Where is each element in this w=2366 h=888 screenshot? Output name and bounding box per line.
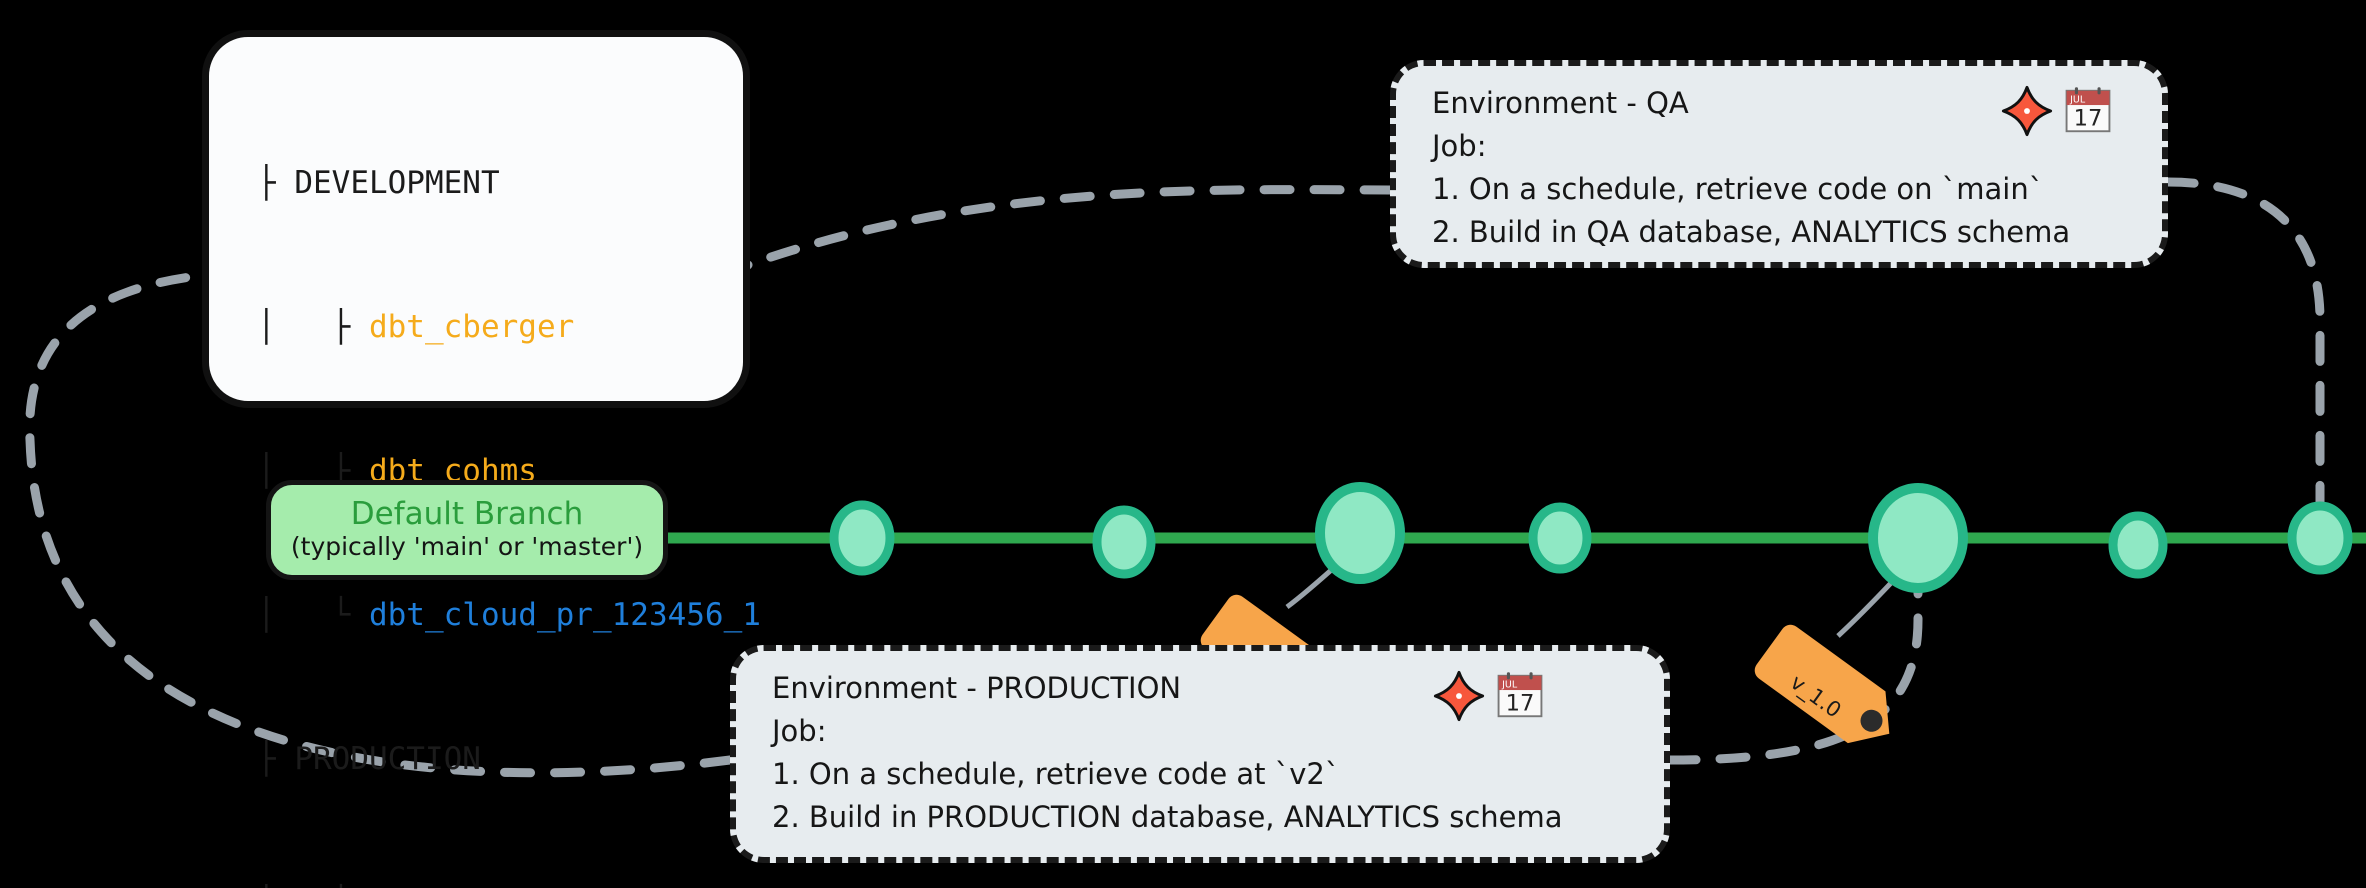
tree-label: dbt_cberger xyxy=(369,309,574,345)
commit-node[interactable] xyxy=(1533,507,1587,569)
environment-production-step-1: 1. On a schedule, retrieve code at `v2` xyxy=(772,753,1644,796)
environment-qa-step-2: 2. Build in QA database, ANALYTICS schem… xyxy=(1432,211,2142,254)
tree-prefix: │ ├ xyxy=(257,309,369,345)
default-branch-subtitle: (typically 'main' or 'master') xyxy=(291,531,643,563)
branch-tree-card: ├ DEVELOPMENT │ ├ dbt_cberger │ ├ dbt_co… xyxy=(202,30,750,408)
tree-prefix: │ └ xyxy=(257,597,369,633)
tree-row-development[interactable]: ├ DEVELOPMENT xyxy=(257,159,761,207)
commit-node[interactable] xyxy=(834,505,890,571)
calendar-icon: JUL 17 xyxy=(2064,86,2112,136)
commit-node[interactable] xyxy=(1873,488,1963,588)
environment-qa-icons: JUL 17 xyxy=(2000,84,2112,138)
diagram-canvas: v_1.0 v_1.0 ├ DEVELOPMENT │ ├ dbt_cberge… xyxy=(0,0,2366,888)
calendar-day: 17 xyxy=(1506,690,1535,716)
environment-card-qa: Environment - QA Job: 1. On a schedule, … xyxy=(1390,60,2168,268)
environment-qa-step-1: 1. On a schedule, retrieve code on `main… xyxy=(1432,168,2142,211)
environment-card-production: Environment - PRODUCTION Job: 1. On a sc… xyxy=(730,645,1670,863)
tree-row-dbt-cloud-pr[interactable]: │ └ dbt_cloud_pr_123456_1 xyxy=(257,591,761,639)
tree-prefix: ├ xyxy=(257,741,294,777)
commit-node[interactable] xyxy=(2113,516,2163,574)
environment-production-icons: JUL 17 xyxy=(1432,669,1544,723)
default-branch-pill: Default Branch (typically 'main' or 'mas… xyxy=(266,480,668,580)
tree-row-production[interactable]: ├ PRODUCTION xyxy=(257,735,761,783)
star-burst-icon xyxy=(1432,669,1486,723)
star-burst-icon xyxy=(2000,84,2054,138)
environment-production-step-2: 2. Build in PRODUCTION database, ANALYTI… xyxy=(772,796,1644,839)
tree-label: DEVELOPMENT xyxy=(294,165,499,201)
commit-node[interactable] xyxy=(1097,510,1151,574)
calendar-icon: JUL 17 xyxy=(1496,671,1544,721)
commit-node[interactable] xyxy=(1320,487,1400,579)
default-branch-title: Default Branch xyxy=(351,497,583,531)
calendar-month: JUL xyxy=(1501,680,1518,691)
calendar-month: JUL xyxy=(2069,95,2086,106)
tree-label: PRODUCTION xyxy=(294,741,481,777)
branch-tree-list: ├ DEVELOPMENT │ ├ dbt_cberger │ ├ dbt_co… xyxy=(257,63,761,888)
tree-prefix: ├ xyxy=(257,165,294,201)
tree-label: dbt_cloud_pr_123456_1 xyxy=(369,597,761,633)
calendar-day: 17 xyxy=(2074,105,2103,131)
tree-row-dbt-cberger[interactable]: │ ├ dbt_cberger xyxy=(257,303,761,351)
commit-node[interactable] xyxy=(2292,506,2348,570)
tree-row-production-analytics[interactable]: │ └ analytics xyxy=(257,879,761,888)
dashed-connector-qa-to-commit xyxy=(2168,182,2320,512)
